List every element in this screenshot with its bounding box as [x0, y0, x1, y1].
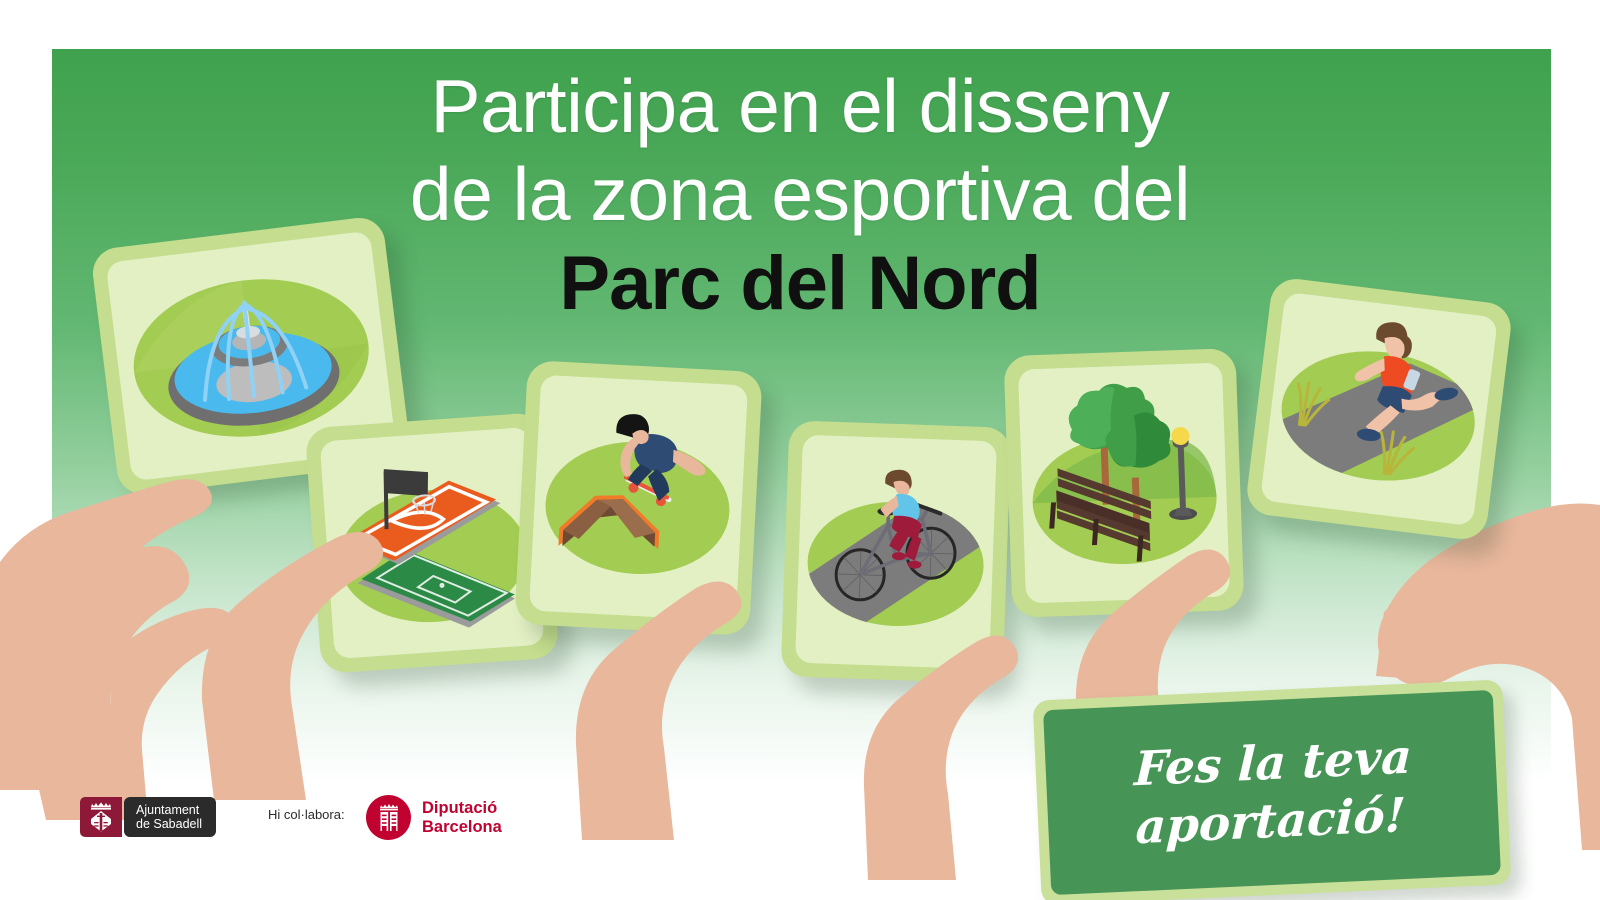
hand-pointing-courts [186, 470, 476, 800]
diputacio-crest-icon [366, 795, 411, 840]
ajuntament-line-2: de Sabadell [136, 817, 202, 832]
ajuntament-name: Ajuntament de Sabadell [124, 797, 216, 837]
logo-diputacio-barcelona[interactable]: Diputació Barcelona [366, 795, 502, 840]
poster-canvas: Participa en el disseny de la zona espor… [0, 0, 1600, 900]
logo-ajuntament-sabadell[interactable]: Ajuntament de Sabadell [80, 797, 216, 837]
card-running-face [1260, 292, 1498, 527]
collaborate-label: Hi col·labora: [268, 807, 345, 822]
footer-logos: Ajuntament de Sabadell Hi col·labora: [0, 783, 1600, 900]
diputacio-line-2: Barcelona [422, 818, 502, 837]
ajuntament-line-1: Ajuntament [136, 803, 202, 818]
runner-icon [1260, 292, 1498, 527]
diputacio-line-1: Diputació [422, 799, 502, 818]
sabadell-crest-icon [80, 797, 122, 837]
diputacio-name: Diputació Barcelona [422, 799, 502, 837]
